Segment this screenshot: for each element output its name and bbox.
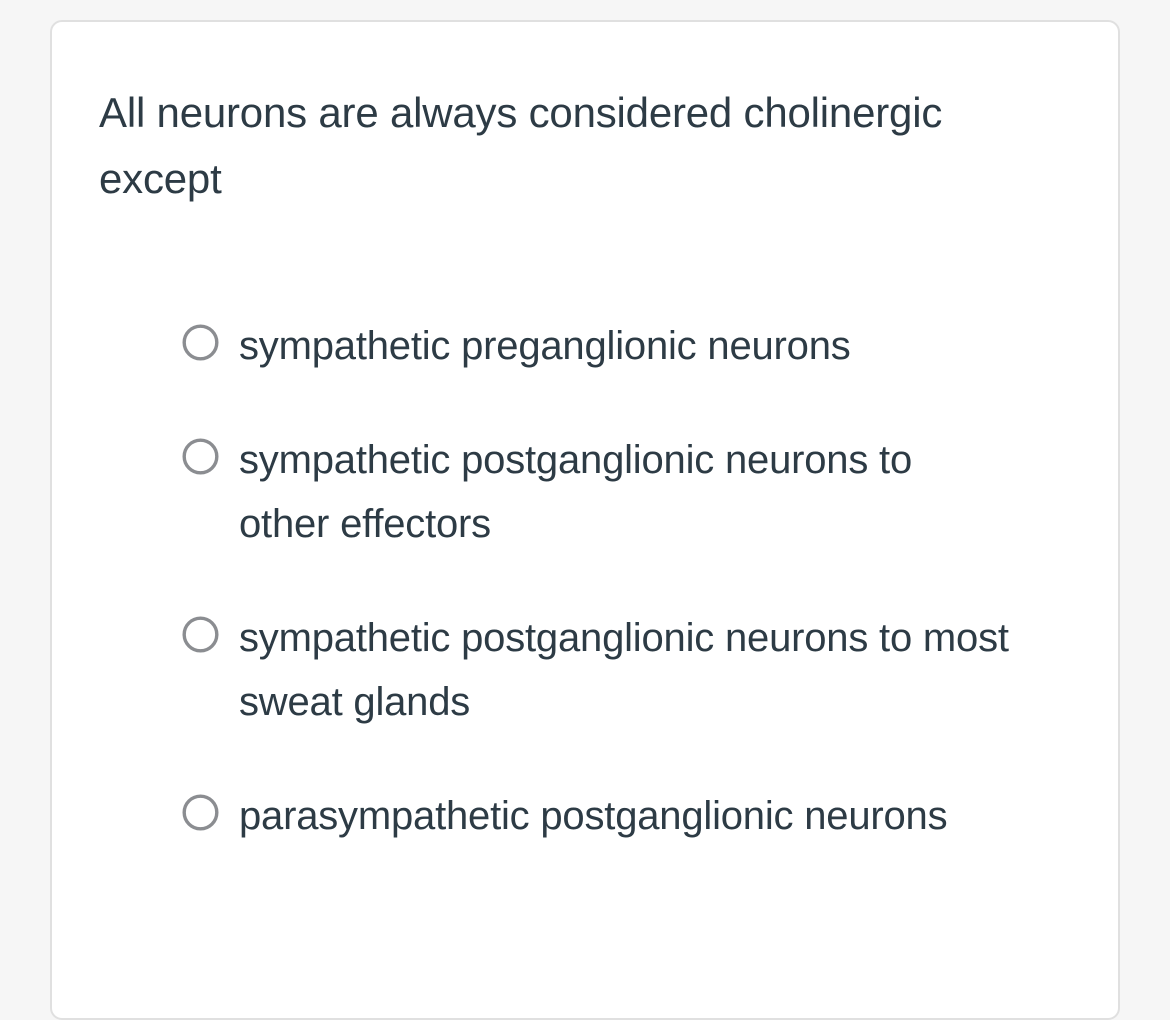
answer-option-2[interactable]: sympathetic postganglionic neurons to ot… — [182, 428, 1062, 556]
question-text: All neurons are always considered cholin… — [99, 80, 1059, 212]
radio-unselected-icon[interactable] — [182, 438, 219, 475]
answer-option-label: sympathetic postganglionic neurons to ot… — [239, 428, 1009, 556]
radio-unselected-icon[interactable] — [182, 616, 219, 653]
answer-option-3[interactable]: sympathetic postganglionic neurons to mo… — [182, 606, 1062, 734]
quiz-question-card: All neurons are always considered cholin… — [50, 20, 1120, 1020]
answer-option-4[interactable]: parasympathetic postganglionic neurons — [182, 784, 1062, 848]
radio-unselected-icon[interactable] — [182, 794, 219, 831]
answer-option-label: parasympathetic postganglionic neurons — [239, 784, 1009, 848]
answer-option-label: sympathetic preganglionic neurons — [239, 314, 1009, 378]
answer-options-list: sympathetic preganglionic neurons sympat… — [182, 314, 1062, 898]
answer-option-label: sympathetic postganglionic neurons to mo… — [239, 606, 1009, 734]
radio-unselected-icon[interactable] — [182, 324, 219, 361]
answer-option-1[interactable]: sympathetic preganglionic neurons — [182, 314, 1062, 378]
